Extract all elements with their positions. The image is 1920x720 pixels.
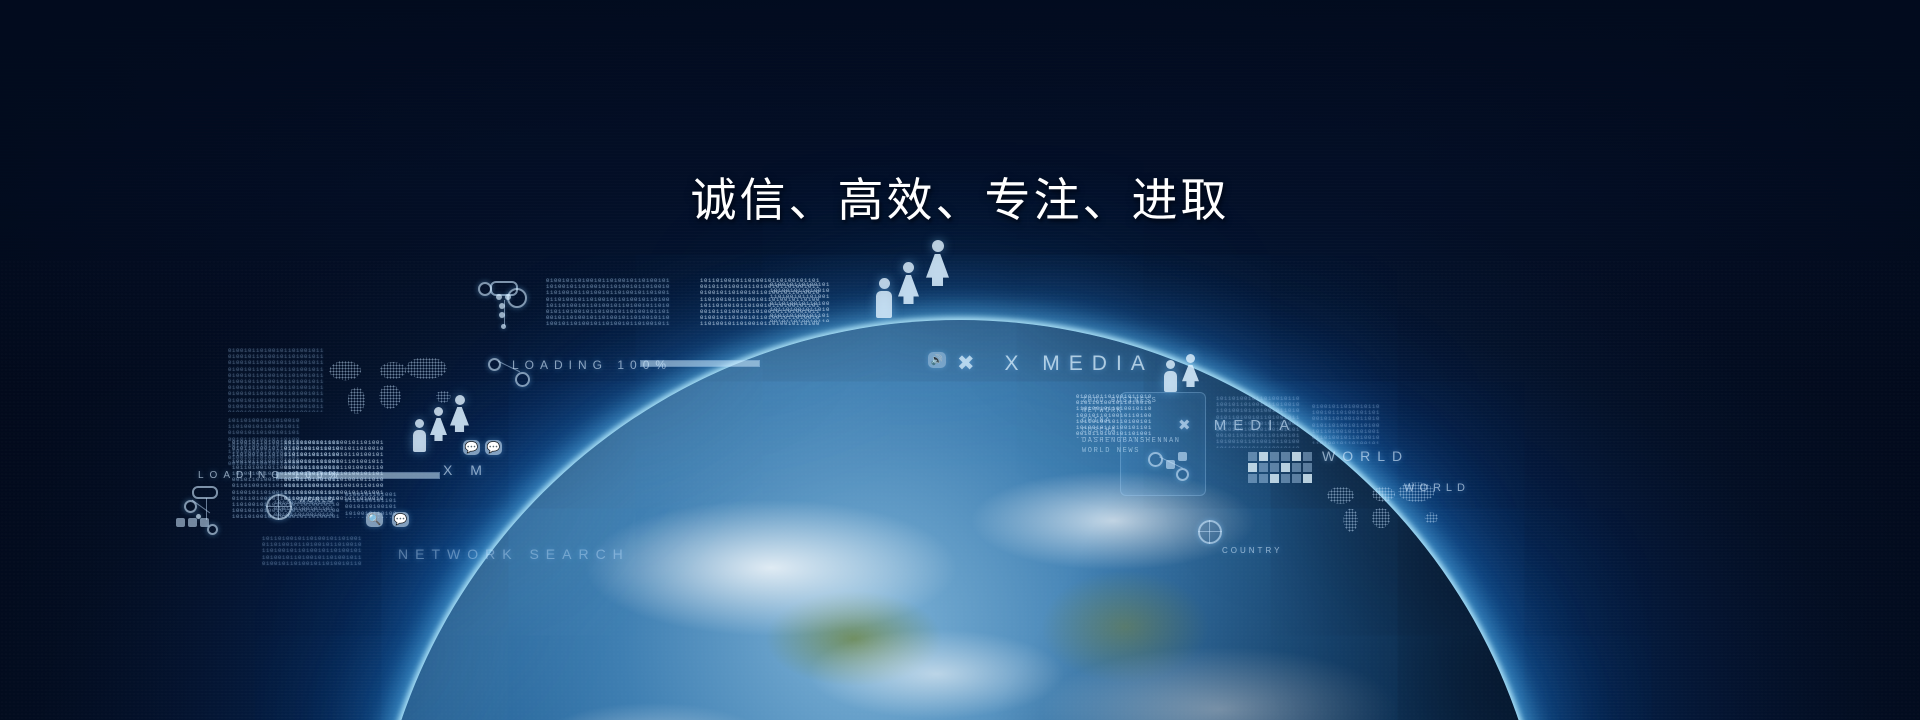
- info-panel-line: WORLD NEWS: [1082, 446, 1140, 456]
- speaker-glyph: 🔊: [928, 352, 946, 368]
- world-small-left-label: WORLD: [299, 497, 335, 504]
- speaker-icon: 🔊: [928, 352, 946, 368]
- person-female-icon: [1186, 354, 1195, 363]
- tile-grid: [1248, 452, 1312, 483]
- indicator-squares: [176, 518, 209, 527]
- person-female-icon: [434, 407, 443, 416]
- chat-bubble-icon: 💬: [463, 440, 480, 455]
- x-mark: ✖: [1178, 417, 1198, 434]
- person-female-icon: [903, 262, 914, 273]
- network-search-label: NETWORK SEARCH: [398, 546, 630, 562]
- search-icon: 🔍: [366, 512, 383, 527]
- search-glyph: 🔍: [366, 512, 383, 527]
- rounded-node-box: [192, 486, 218, 499]
- globe-meridian: [278, 494, 279, 520]
- person-female-icon: [932, 240, 944, 252]
- binary-block: 1011010010110100101101001011010010110100…: [1216, 396, 1302, 448]
- globe-meridian: [1209, 520, 1210, 544]
- node-dot: [496, 294, 502, 300]
- person-female-icon: [455, 395, 465, 405]
- country-label: COUNTRY: [1222, 546, 1282, 555]
- globe-outline-icon: [1198, 520, 1222, 544]
- world-map-icon: [320, 352, 460, 414]
- info-panel-line: DASHENGBANSHENNAN: [1082, 436, 1181, 446]
- binary-block: 0100101101001011010010110100101101001011…: [546, 278, 672, 326]
- progress-bar-fill: [641, 361, 759, 366]
- network-node-icon: [488, 358, 501, 371]
- hero-banner: 0100101101001011010010110100101101001011…: [0, 0, 1920, 720]
- info-panel-line: CHINA: [1082, 416, 1111, 426]
- chat-glyph: 💬: [392, 512, 409, 527]
- loading-label-lower: LOADING 100%: [198, 470, 343, 481]
- person-male-icon: [413, 430, 426, 452]
- connector-line: [206, 498, 207, 520]
- indicator-square: [1178, 452, 1187, 461]
- person-male-icon: [1164, 371, 1177, 392]
- connector-line: [504, 300, 505, 326]
- network-node-icon: [1176, 468, 1189, 481]
- chat-glyph: 💬: [463, 440, 480, 455]
- binary-block: 1011010010110100101101001011010010110100…: [262, 536, 362, 566]
- chat-glyph: 💬: [485, 440, 502, 455]
- person-male-icon: [415, 419, 424, 428]
- info-panel-line: CUSCHA: [1082, 426, 1117, 436]
- chat-bubble-icon: 💬: [392, 512, 409, 527]
- globe-parallel: [266, 506, 292, 507]
- indicator-square: [1166, 460, 1175, 469]
- page-title: 诚信、高效、专注、进取: [0, 164, 1920, 230]
- node-dot: [505, 294, 511, 300]
- binary-block: 0100101101001011010010110100101101001011…: [228, 348, 324, 412]
- binary-block: 0100101101001011010010110100101101001011…: [770, 282, 830, 322]
- person-male-icon: [876, 291, 892, 318]
- info-panel-line: ZHOU BUSINESS: [1082, 396, 1157, 406]
- x-mark: ✖: [957, 352, 984, 375]
- x-media-label: ✖ X MEDIA: [957, 351, 1154, 376]
- world-right-label: WORLD: [1322, 448, 1409, 464]
- network-node-icon: [515, 372, 530, 387]
- info-panel-line: NETWORK: [1082, 406, 1123, 416]
- world-map-icon: [1318, 478, 1444, 532]
- person-male-icon: [1166, 360, 1175, 369]
- globe-parallel: [1198, 531, 1222, 532]
- globe-outline-icon: [266, 494, 292, 520]
- network-node-icon: [478, 282, 492, 296]
- binary-block: 0100101101001011010010110100101101001011…: [1312, 404, 1382, 444]
- network-node-icon: [1148, 452, 1163, 467]
- person-male-icon: [879, 278, 890, 289]
- media-word: X MEDIA: [1004, 352, 1153, 375]
- progress-bar-icon: [640, 360, 760, 367]
- chat-bubble-icon: 💬: [485, 440, 502, 455]
- x-media-left-label: X M: [443, 462, 489, 478]
